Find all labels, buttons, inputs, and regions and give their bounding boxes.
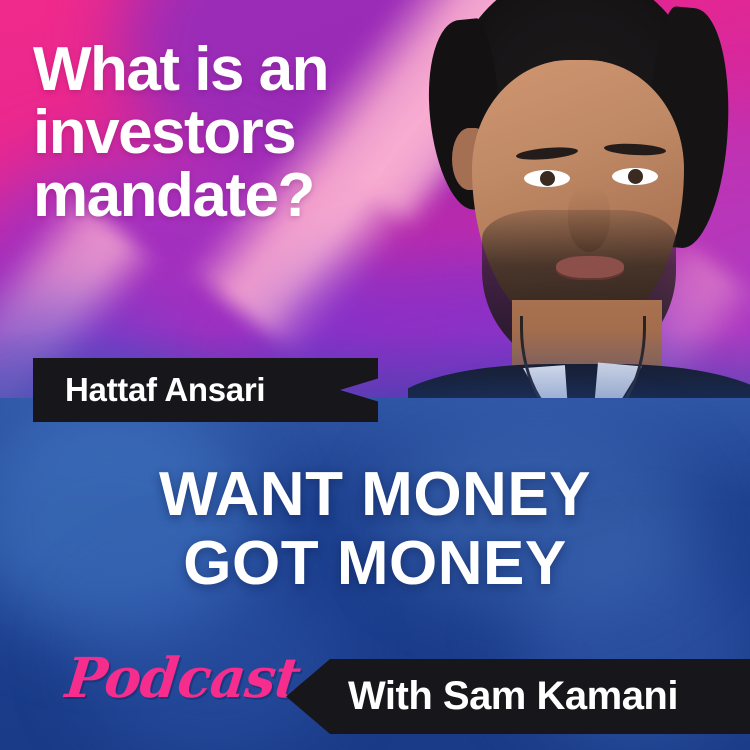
podcast-script-wordmark: Podcast bbox=[63, 645, 303, 710]
host-credit-label: With Sam Kamani bbox=[348, 674, 678, 719]
portrait-eye bbox=[612, 168, 658, 185]
headline-line-2: investors bbox=[33, 101, 433, 164]
portrait-eye bbox=[524, 170, 570, 187]
host-credit-banner: With Sam Kamani bbox=[286, 659, 750, 734]
episode-question-headline: What is an investors mandate? bbox=[33, 38, 433, 228]
show-title: WANT MONEY GOT MONEY bbox=[0, 460, 750, 599]
headline-line-1: What is an bbox=[33, 38, 433, 101]
show-title-line-1: WANT MONEY bbox=[0, 460, 750, 529]
guest-name-banner: Hattaf Ansari bbox=[33, 358, 378, 422]
guest-name-label: Hattaf Ansari bbox=[65, 371, 265, 409]
podcast-cover-art: What is an investors mandate? Hattaf Ans… bbox=[0, 0, 750, 750]
portrait-mouth bbox=[556, 256, 624, 280]
show-title-line-2: GOT MONEY bbox=[0, 529, 750, 598]
headline-line-3: mandate? bbox=[33, 164, 433, 227]
